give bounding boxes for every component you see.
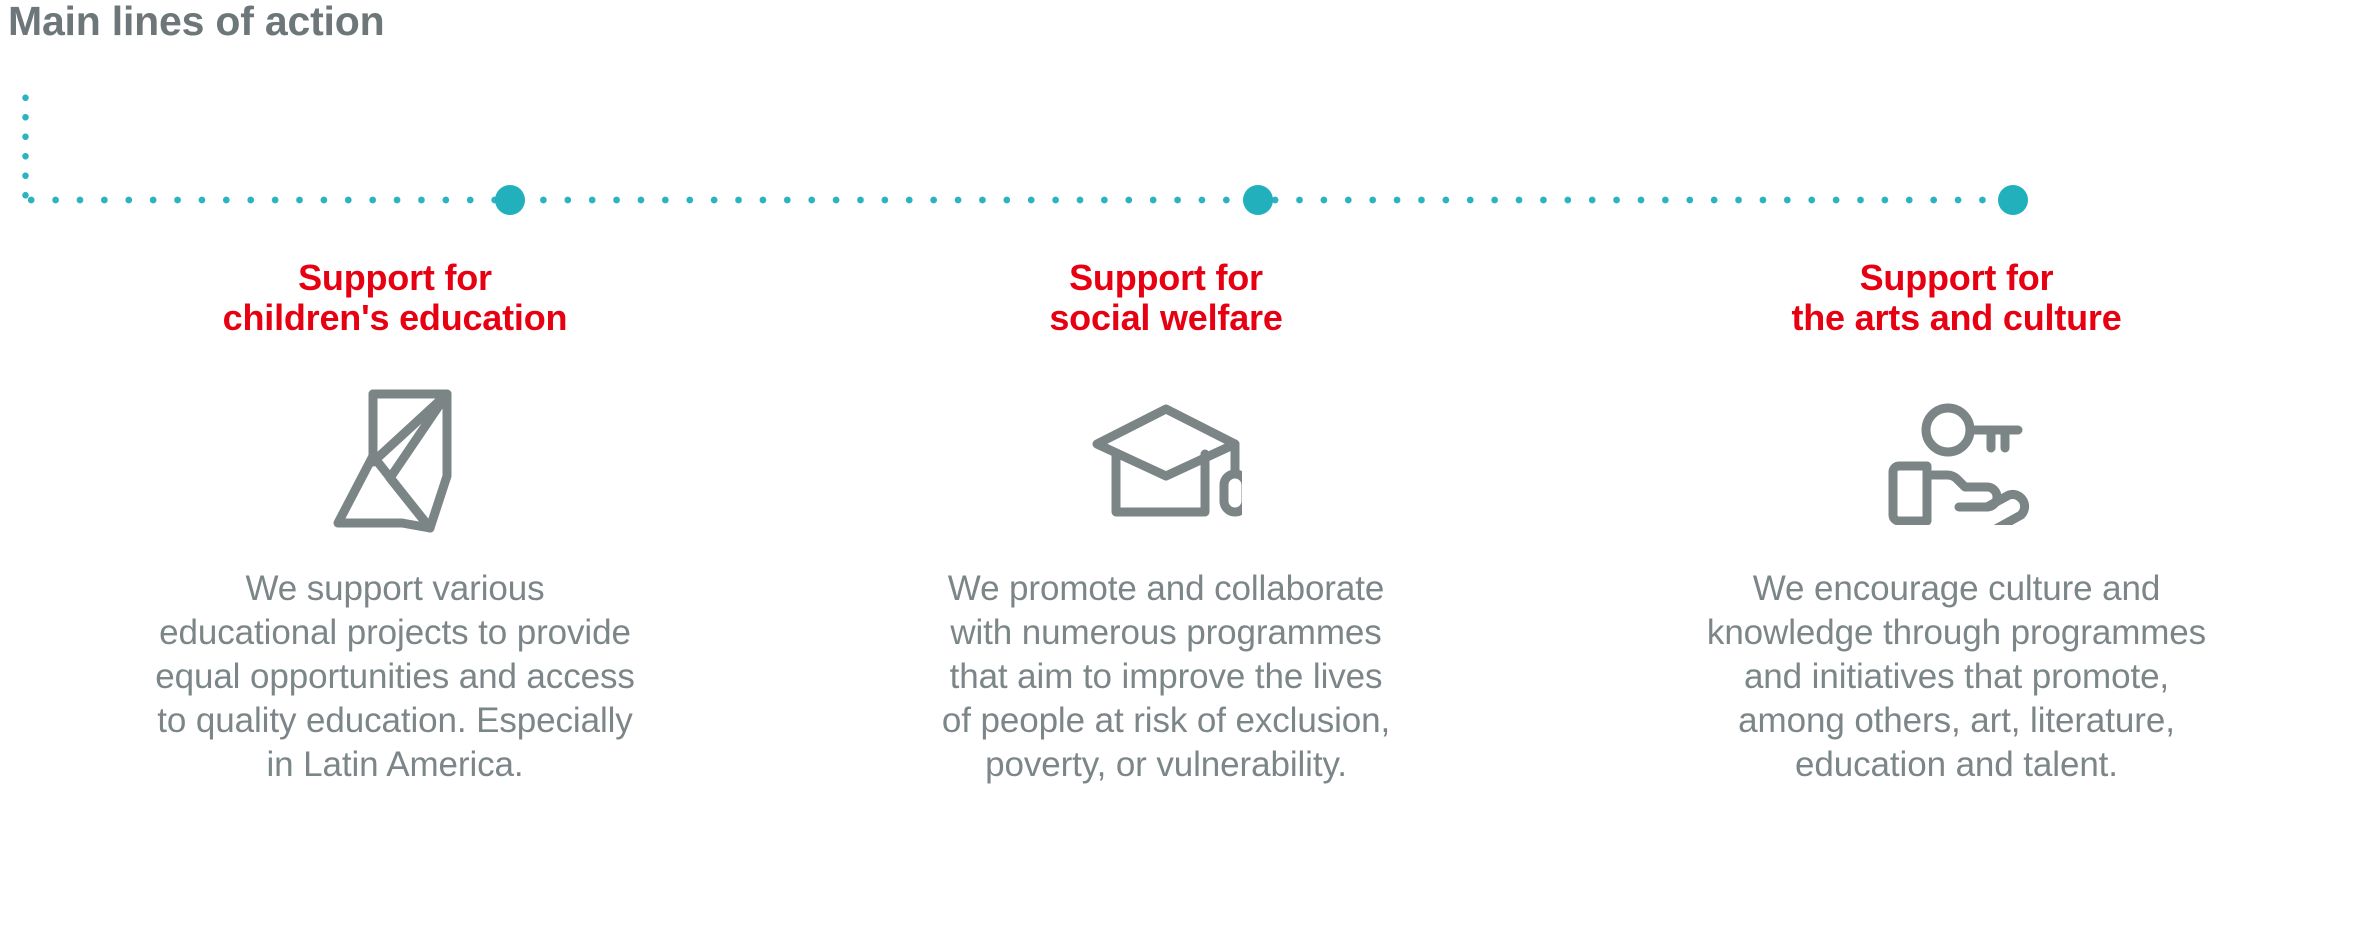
icon-container-children-education	[330, 361, 460, 561]
icon-container-arts-culture	[1871, 361, 2043, 561]
timeline-marker-social-welfare[interactable]	[1243, 185, 1273, 215]
infographic-root: Main lines of action Support for childre…	[0, 0, 2371, 951]
timeline-vertical-dotted-line	[19, 88, 32, 200]
column-heading-children-education: Support for children's education	[223, 258, 568, 339]
column-heading-social-welfare: Support for social welfare	[1049, 258, 1282, 339]
column-social-welfare: Support for social welfare We promote an…	[790, 258, 1542, 787]
timeline-marker-arts-culture[interactable]	[1998, 185, 2028, 215]
timeline-marker-children-education[interactable]	[495, 185, 525, 215]
icon-container-social-welfare	[1090, 361, 1242, 561]
timeline-horizontal-dotted-line	[19, 193, 2019, 207]
column-children-education: Support for children's education We supp…	[0, 258, 790, 787]
column-body-social-welfare: We promote and collaborate with numerous…	[916, 567, 1416, 787]
hand-holding-key-icon	[1871, 397, 2043, 525]
graduation-cap-icon	[1090, 402, 1242, 520]
column-body-arts-culture: We encourage culture and knowledge throu…	[1671, 567, 2243, 787]
column-body-children-education: We support various educational projects …	[135, 567, 655, 787]
columns-container: Support for children's education We supp…	[0, 258, 2371, 787]
page-title: Main lines of action	[8, 0, 384, 45]
origami-paper-crane-icon	[330, 386, 460, 536]
column-heading-arts-culture: Support for the arts and culture	[1791, 258, 2121, 339]
column-arts-culture: Support for the arts and culture	[1542, 258, 2371, 787]
